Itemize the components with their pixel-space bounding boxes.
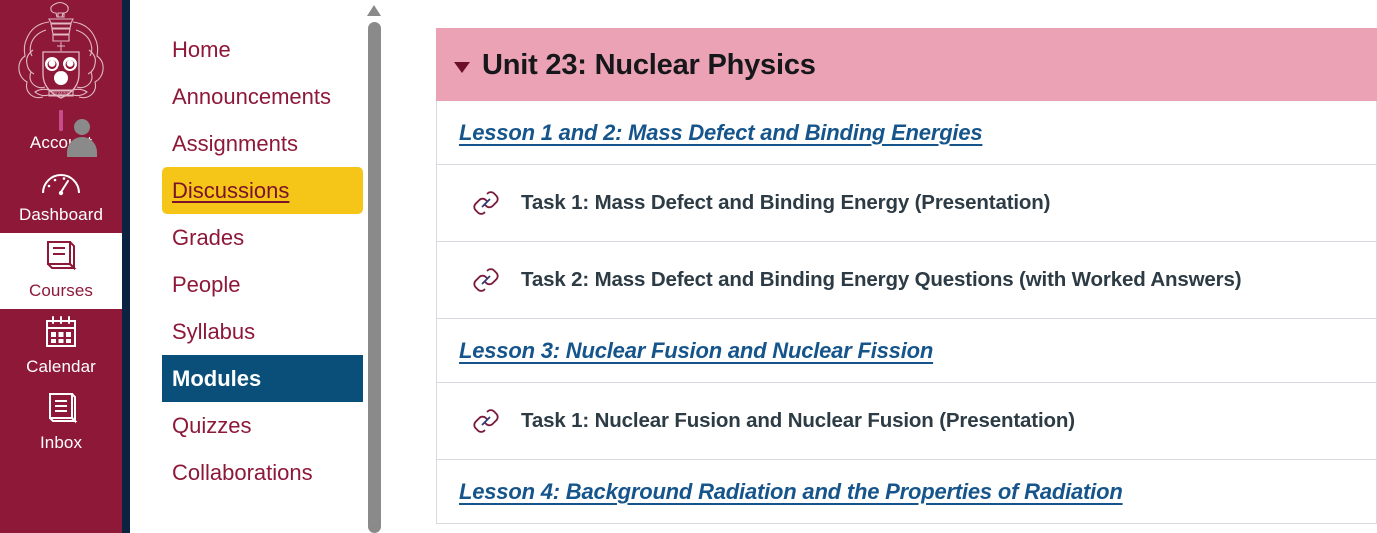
global-nav-item-dashboard[interactable]: Dashboard — [0, 161, 122, 233]
global-nav-label: Courses — [29, 281, 93, 301]
global-nav-item-courses[interactable]: Courses — [0, 233, 122, 309]
module-subheader-link[interactable]: Lesson 1 and 2: Mass Defect and Binding … — [459, 120, 982, 146]
scroll-up-arrow-icon[interactable] — [367, 5, 381, 16]
course-nav-label: Syllabus — [172, 319, 255, 344]
university-crest-icon[interactable]: DOMINE — [11, 0, 111, 106]
global-nav-item-inbox[interactable]: Inbox — [0, 385, 122, 461]
modules-content: Unit 23: Nuclear Physics Lesson 1 and 2:… — [436, 0, 1377, 533]
course-nav-label: Modules — [172, 366, 261, 391]
nav-edge-strip — [122, 0, 130, 533]
course-nav-label: Grades — [172, 225, 244, 250]
module-subheader-row[interactable]: Lesson 3: Nuclear Fusion and Nuclear Fis… — [437, 319, 1376, 383]
course-nav-item-people[interactable]: People — [162, 261, 363, 308]
course-nav-item-grades[interactable]: Grades — [162, 214, 363, 261]
course-nav-item-announcements[interactable]: Announcements — [162, 73, 363, 120]
link-icon — [469, 263, 503, 297]
course-nav-label: Collaborations — [172, 460, 313, 485]
course-nav-label: Home — [172, 37, 231, 62]
global-nav-label: Dashboard — [19, 205, 103, 225]
module-item-row[interactable]: Task 1: Mass Defect and Binding Energy (… — [437, 165, 1376, 242]
module-subheader-row[interactable]: Lesson 4: Background Radiation and the P… — [437, 460, 1376, 524]
module-item-row[interactable]: Task 2: Mass Defect and Binding Energy Q… — [437, 242, 1376, 319]
inbox-icon — [44, 391, 78, 430]
page-scrollbar[interactable] — [364, 0, 384, 533]
link-icon — [469, 404, 503, 438]
canvas-modules-page: DOMINE Account — [0, 0, 1377, 533]
module-subheader-row[interactable]: Lesson 1 and 2: Mass Defect and Binding … — [437, 101, 1376, 165]
course-nav-label: Assignments — [172, 131, 298, 156]
content-gutter — [392, 0, 436, 533]
link-icon — [469, 186, 503, 220]
course-nav-item-modules[interactable]: Modules — [162, 355, 363, 402]
calendar-icon — [43, 315, 79, 354]
course-nav-label: Quizzes — [172, 413, 251, 438]
module-subheader-link[interactable]: Lesson 4: Background Radiation and the P… — [459, 479, 1123, 505]
course-nav-label: Discussions — [172, 178, 289, 203]
module-item-row[interactable]: Task 1: Nuclear Fusion and Nuclear Fusio… — [437, 383, 1376, 460]
course-nav-item-collaborations[interactable]: Collaborations — [162, 449, 363, 496]
global-navigation: DOMINE Account — [0, 0, 122, 533]
module-header[interactable]: Unit 23: Nuclear Physics — [436, 28, 1377, 101]
gauge-icon — [40, 167, 82, 202]
global-nav-label: Inbox — [40, 433, 82, 453]
avatar-icon — [59, 112, 63, 130]
module-subheader-link[interactable]: Lesson 3: Nuclear Fusion and Nuclear Fis… — [459, 338, 933, 364]
module-item-title[interactable]: Task 1: Mass Defect and Binding Energy (… — [521, 191, 1050, 215]
global-nav-item-account[interactable]: Account — [0, 106, 122, 161]
course-nav-item-assignments[interactable]: Assignments — [162, 120, 363, 167]
course-nav-item-syllabus[interactable]: Syllabus — [162, 308, 363, 355]
caret-down-icon[interactable] — [454, 62, 470, 73]
course-nav-label: Announcements — [172, 84, 331, 109]
course-nav-item-discussions[interactable]: Discussions — [162, 167, 363, 214]
course-nav-item-home[interactable]: Home — [162, 26, 363, 73]
module-item-title[interactable]: Task 1: Nuclear Fusion and Nuclear Fusio… — [521, 409, 1075, 433]
course-navigation: Home Announcements Assignments Discussio… — [130, 0, 392, 533]
scrollbar-thumb[interactable] — [368, 22, 381, 533]
module-item-title[interactable]: Task 2: Mass Defect and Binding Energy Q… — [521, 268, 1241, 292]
book-icon — [43, 239, 79, 278]
course-nav-label: People — [172, 272, 241, 297]
svg-text:DOMINE: DOMINE — [53, 91, 70, 96]
module-item-list: Lesson 1 and 2: Mass Defect and Binding … — [436, 101, 1377, 524]
global-nav-item-calendar[interactable]: Calendar — [0, 309, 122, 385]
global-nav-label: Calendar — [26, 357, 96, 377]
course-nav-item-quizzes[interactable]: Quizzes — [162, 402, 363, 449]
module-title: Unit 23: Nuclear Physics — [482, 49, 816, 82]
